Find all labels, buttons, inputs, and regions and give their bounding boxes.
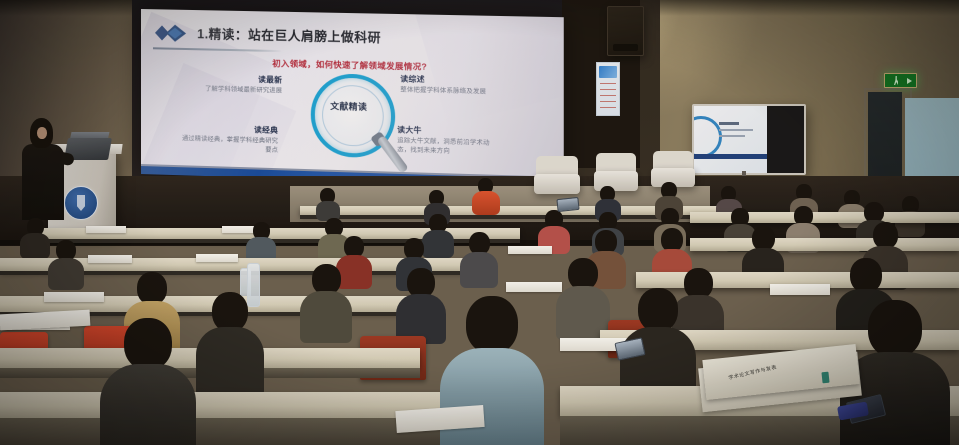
audience-person-foreground	[100, 318, 196, 445]
projection-screen: 1.精读：站在巨人肩膀上做科研 初入领域，如何快速了解领域发展情况? 文献精读 …	[141, 9, 564, 187]
paper-on-desk	[88, 255, 132, 263]
audience-person	[246, 222, 276, 258]
quadrant-heading: 读最新	[183, 72, 282, 85]
tv-arc-graphic	[692, 116, 722, 158]
quadrant-description: 追踪大牛文献，洞悉前沿学术动态，找到未来方向	[397, 137, 499, 158]
person-head	[466, 296, 518, 354]
slide-quadrant-bottom-right: 读大牛 追踪大牛文献，洞悉前沿学术动态，找到未来方向	[397, 124, 499, 159]
presenter-face	[37, 127, 47, 139]
quadrant-heading: 读经典	[179, 122, 278, 136]
person-body	[440, 348, 544, 445]
smartphone-recording[interactable]	[556, 197, 579, 212]
paper-on-desk	[508, 246, 552, 254]
green-binder-clip	[821, 372, 829, 384]
slide-quadrant-bottom-left: 读经典 通过精读经典，掌握学科经典研究要点	[179, 122, 278, 156]
wall-speaker	[607, 6, 644, 56]
person-body	[460, 252, 498, 288]
slide-title: 1.精读：站在巨人肩膀上做科研	[197, 23, 381, 46]
paper-on-desk	[196, 254, 238, 262]
audience-person	[460, 232, 498, 280]
desk-row-3-right	[690, 238, 959, 251]
running-man-icon	[894, 76, 898, 85]
person-body	[48, 258, 84, 290]
audience-person	[300, 264, 352, 332]
exit-arrow-icon	[907, 78, 912, 84]
tv-bottom-bar	[694, 154, 769, 159]
university-crest-emblem	[64, 186, 98, 220]
paper-on-desk	[86, 226, 126, 233]
tv-text-line	[719, 129, 753, 131]
tv-dark-region	[767, 106, 804, 173]
audience-person	[48, 240, 84, 284]
person-head	[212, 292, 248, 332]
person-head	[873, 222, 898, 249]
lecture-hall-scene: 1.精读：站在巨人肩膀上做科研 初入领域，如何快速了解领域发展情况? 文献精读 …	[0, 0, 959, 445]
presentation-slide: 1.精读：站在巨人肩膀上做科研 初入领域，如何快速了解领域发展情况? 文献精读 …	[141, 9, 564, 187]
quadrant-heading: 读大牛	[397, 124, 499, 138]
tv-slide-content	[694, 106, 769, 173]
poster-line	[600, 101, 616, 102]
poster-line	[600, 107, 616, 108]
slide-center-label: 文献精读	[311, 99, 387, 113]
poster-line	[600, 95, 616, 96]
person-head	[638, 288, 678, 332]
audience-person	[20, 218, 50, 254]
person-body	[196, 327, 264, 397]
person-body	[472, 191, 500, 215]
blue-diamond-logo-icon	[152, 22, 192, 44]
wall-poster	[596, 62, 620, 116]
tv-text-line	[719, 122, 739, 125]
front-sofa	[534, 174, 580, 194]
person-head	[850, 258, 882, 293]
paper-foreground	[0, 310, 90, 331]
person-body	[20, 233, 50, 259]
paper-on-desk	[506, 282, 562, 292]
speaker-grille	[613, 44, 638, 51]
person-body	[300, 291, 352, 343]
slide-quadrant-top-left: 读最新 了解学科领域最新研究进展	[183, 72, 282, 97]
poster-header	[599, 66, 617, 78]
poster-line	[600, 83, 616, 84]
person-head	[868, 300, 922, 358]
quadrant-heading: 读综述	[400, 73, 502, 87]
paper-on-desk	[44, 292, 104, 302]
poster-line	[600, 89, 616, 90]
audience-person	[196, 292, 264, 386]
tv-text-line	[719, 135, 745, 137]
emergency-exit-sign	[884, 73, 917, 88]
audience-person	[316, 188, 340, 216]
audience-person-photographer	[538, 210, 570, 248]
audience-person	[556, 258, 610, 330]
handout-title: 学术论文写作与发表	[728, 363, 778, 381]
audience-person	[396, 268, 446, 334]
wall-mounted-display	[692, 104, 806, 175]
paper-on-desk	[770, 284, 830, 295]
audience-person	[742, 226, 784, 278]
quadrant-description: 整体把握学科体系脉络及发展	[400, 86, 502, 98]
audience-person-red	[472, 178, 500, 210]
person-head	[124, 318, 172, 370]
person-body	[100, 364, 196, 445]
quadrant-description: 通过精读经典，掌握学科经典研究要点	[179, 135, 278, 156]
slide-quadrant-top-right: 读综述 整体把握学科体系脉络及发展	[400, 73, 502, 98]
